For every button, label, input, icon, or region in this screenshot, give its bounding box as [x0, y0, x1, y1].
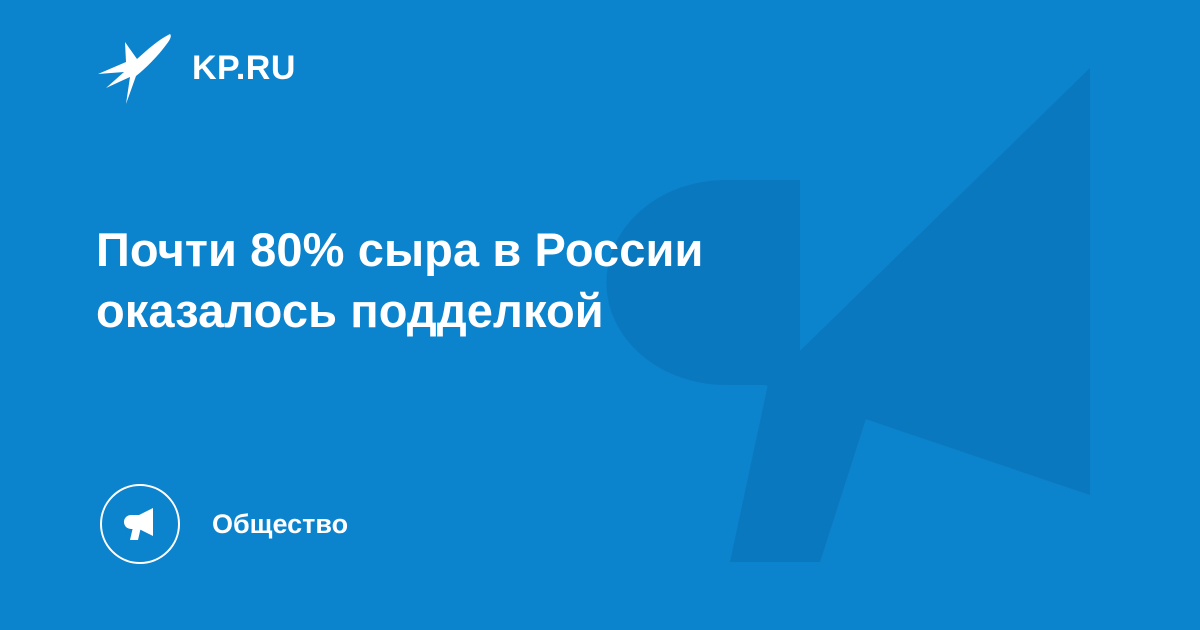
- headline-line-1: Почти 80% сыра в России: [96, 219, 926, 280]
- page-title: Почти 80% сыра в России оказалось поддел…: [96, 219, 926, 341]
- swallow-bird-icon: [96, 32, 174, 104]
- article-share-card: KP.RU Почти 80% сыра в России оказалось …: [0, 0, 1200, 630]
- brand-logo[interactable]: KP.RU: [96, 32, 296, 104]
- headline-line-2: оказалось подделкой: [96, 280, 926, 341]
- megaphone-icon: [118, 502, 162, 546]
- category-badge-group[interactable]: Общество: [100, 483, 348, 565]
- category-label: Общество: [212, 511, 348, 538]
- category-icon-circle: [100, 484, 180, 564]
- brand-name: KP.RU: [192, 51, 296, 85]
